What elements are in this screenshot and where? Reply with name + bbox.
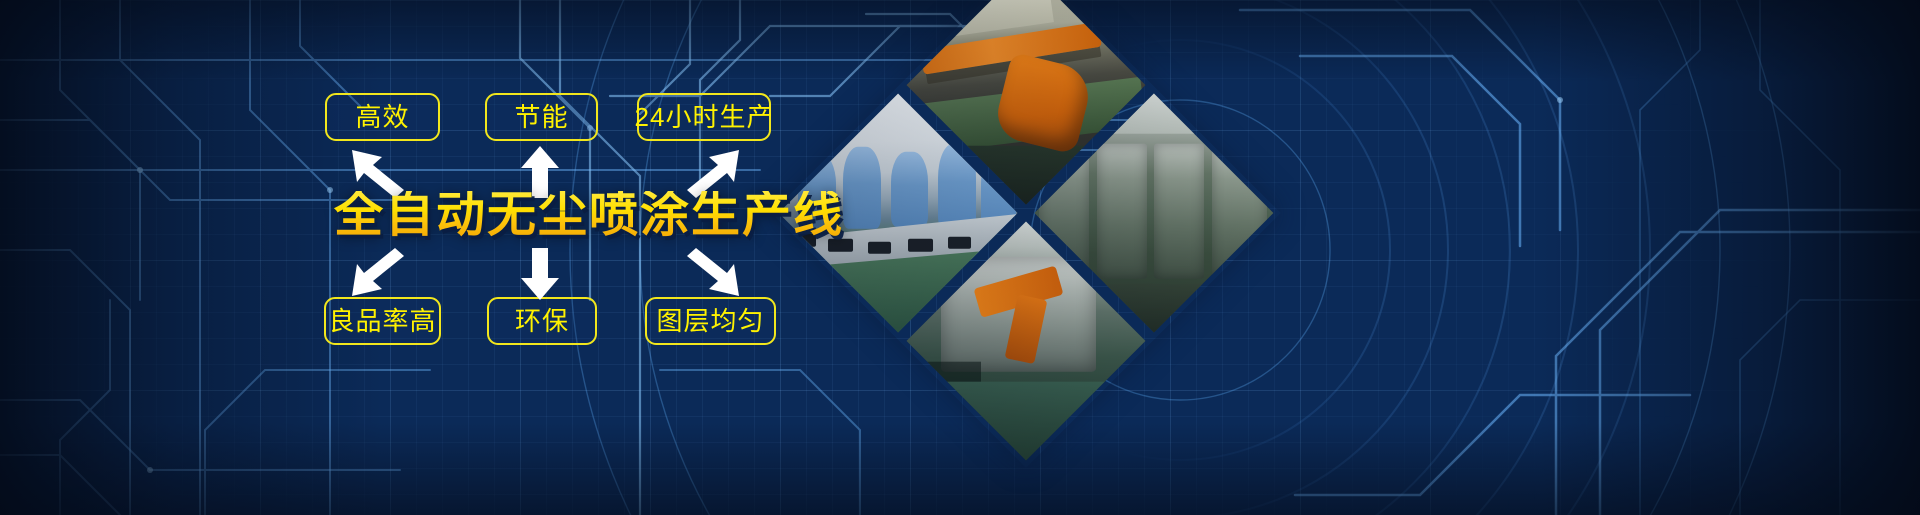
feature-chip-bottom-2[interactable]: 图层均匀 bbox=[645, 297, 776, 345]
arrow-down-icon bbox=[519, 248, 561, 302]
feature-chip-top-1[interactable]: 节能 bbox=[485, 93, 598, 141]
arrow-down-left-icon bbox=[348, 248, 412, 302]
banner-root: 高效 节能 24小时生产 良品率高 环保 图层均匀 bbox=[0, 0, 1920, 515]
feature-chip-label: 图层均匀 bbox=[656, 308, 764, 334]
feature-chip-bottom-1[interactable]: 环保 bbox=[487, 297, 597, 345]
feature-chip-label: 良品率高 bbox=[328, 308, 436, 334]
feature-chip-label: 高效 bbox=[355, 104, 409, 130]
feature-diagram: 高效 节能 24小时生产 良品率高 环保 图层均匀 bbox=[0, 0, 900, 515]
feature-chip-label: 环保 bbox=[515, 308, 569, 334]
feature-chip-label: 节能 bbox=[514, 104, 568, 130]
feature-chip-bottom-0[interactable]: 良品率高 bbox=[324, 297, 441, 345]
feature-chip-top-0[interactable]: 高效 bbox=[325, 93, 440, 141]
page-title: 全自动无尘喷涂生产线 bbox=[334, 191, 844, 240]
feature-chip-top-2[interactable]: 24小时生产 bbox=[637, 93, 771, 141]
arrow-down-right-icon bbox=[679, 248, 743, 302]
feature-chip-label: 24小时生产 bbox=[635, 104, 774, 130]
